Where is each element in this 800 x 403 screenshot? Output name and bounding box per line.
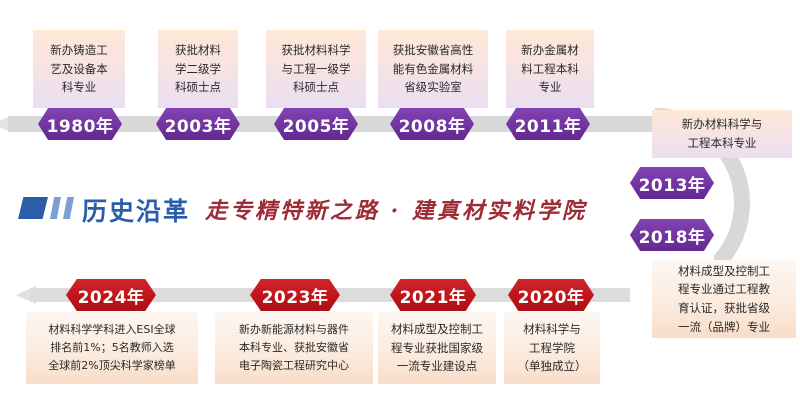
timeline-infographic: 新办铸造工 艺及设备本 科专业 获批材料 学二级学 科硕士点 获批材料科学 与工… xyxy=(0,0,800,403)
milestone-card-2003: 获批材料 学二级学 科硕士点 xyxy=(158,30,238,108)
card-line: 艺及设备本 xyxy=(50,60,108,79)
year-chip-2013[interactable]: 2013年 xyxy=(630,167,714,199)
year-chip-2021[interactable]: 2021年 xyxy=(390,279,476,311)
card-line: 一流专业建设点 xyxy=(397,357,478,376)
milestone-card-2021: 材料成型及控制工 程专业获批国家级 一流专业建设点 xyxy=(378,312,496,384)
card-line: 获批安徽省高性 xyxy=(393,41,474,60)
card-line: 获批材料科学 xyxy=(282,41,351,60)
card-line: 材料科学学科进入ESI全球 xyxy=(48,321,175,339)
year-chip-1980[interactable]: 1980年 xyxy=(38,108,122,140)
page-title: 历史沿革 xyxy=(82,192,190,228)
milestone-card-2023: 新办新能源材料与器件 本科专业、获批安徽省 电子陶瓷工程研究中心 xyxy=(215,312,373,384)
card-line: 电子陶瓷工程研究中心 xyxy=(239,357,349,375)
milestone-card-2008: 获批安徽省高性 能有色金属材料 省级实验室 xyxy=(378,30,488,108)
card-line: 程专业获批国家级 xyxy=(391,339,483,358)
milestone-card-2020: 材料科学与 工程学院 （单独成立） xyxy=(504,312,600,384)
card-line: 育认证，获批省级 xyxy=(678,299,770,318)
card-line: 全球前2%顶尖科学家榜单 xyxy=(48,357,175,375)
card-line: 省级实验室 xyxy=(404,78,462,97)
institute-logo-icon xyxy=(18,193,76,223)
card-line: 工程本科专业 xyxy=(688,134,757,153)
card-line: 获批材料 xyxy=(175,41,221,60)
card-line: 程专业通过工程教 xyxy=(678,280,770,299)
card-line: 新办金属材 xyxy=(521,41,579,60)
logo-slash-2 xyxy=(63,197,74,219)
year-chip-2011[interactable]: 2011年 xyxy=(506,108,590,140)
milestone-card-2005: 获批材料科学 与工程一级学 科硕士点 xyxy=(266,30,366,108)
card-line: 科硕士点 xyxy=(175,78,221,97)
card-line: 能有色金属材料 xyxy=(393,60,474,79)
year-chip-2005[interactable]: 2005年 xyxy=(274,108,358,140)
card-line: 与工程一级学 xyxy=(282,60,351,79)
card-line: 排名前1%；5名教师入选 xyxy=(50,339,173,357)
card-line: 材料科学与 xyxy=(523,320,581,339)
milestone-card-2013: 新办材料科学与 工程本科专业 xyxy=(652,110,792,158)
card-line: 工程学院 xyxy=(529,339,575,358)
card-line: 科专业 xyxy=(62,78,97,97)
milestone-card-2011: 新办金属材 料工程本科 专业 xyxy=(506,30,594,108)
year-chip-2008[interactable]: 2008年 xyxy=(390,108,474,140)
logo-block-shape xyxy=(18,197,48,219)
milestone-card-1980: 新办铸造工 艺及设备本 科专业 xyxy=(33,30,125,108)
card-line: 材料成型及控制工 xyxy=(678,262,770,281)
milestone-card-2024: 材料科学学科进入ESI全球 排名前1%；5名教师入选 全球前2%顶尖科学家榜单 xyxy=(26,312,198,384)
year-chip-2020[interactable]: 2020年 xyxy=(508,279,594,311)
card-line: （单独成立） xyxy=(518,357,587,376)
year-chip-2003[interactable]: 2003年 xyxy=(156,108,240,140)
card-line: 专业 xyxy=(539,78,562,97)
card-line: 材料成型及控制工 xyxy=(391,320,483,339)
card-line: 一流（品牌）专业 xyxy=(678,318,770,337)
card-line: 学二级学 xyxy=(175,60,221,79)
card-line: 料工程本科 xyxy=(521,60,579,79)
card-line: 新办铸造工 xyxy=(50,41,108,60)
logo-slash-1 xyxy=(50,197,61,219)
milestone-card-2018: 材料成型及控制工 程专业通过工程教 育认证，获批省级 一流（品牌）专业 xyxy=(652,260,796,338)
card-line: 新办材料科学与 xyxy=(682,115,763,134)
year-chip-2023[interactable]: 2023年 xyxy=(250,279,340,311)
card-line: 新办新能源材料与器件 xyxy=(239,321,349,339)
card-line: 本科专业、获批安徽省 xyxy=(239,339,349,357)
card-line: 科硕士点 xyxy=(293,78,339,97)
year-chip-2024[interactable]: 2024年 xyxy=(66,279,156,311)
slogan-text: 走专精特新之路 · 建真材实料学院 xyxy=(205,193,587,225)
year-chip-2018[interactable]: 2018年 xyxy=(630,219,714,251)
